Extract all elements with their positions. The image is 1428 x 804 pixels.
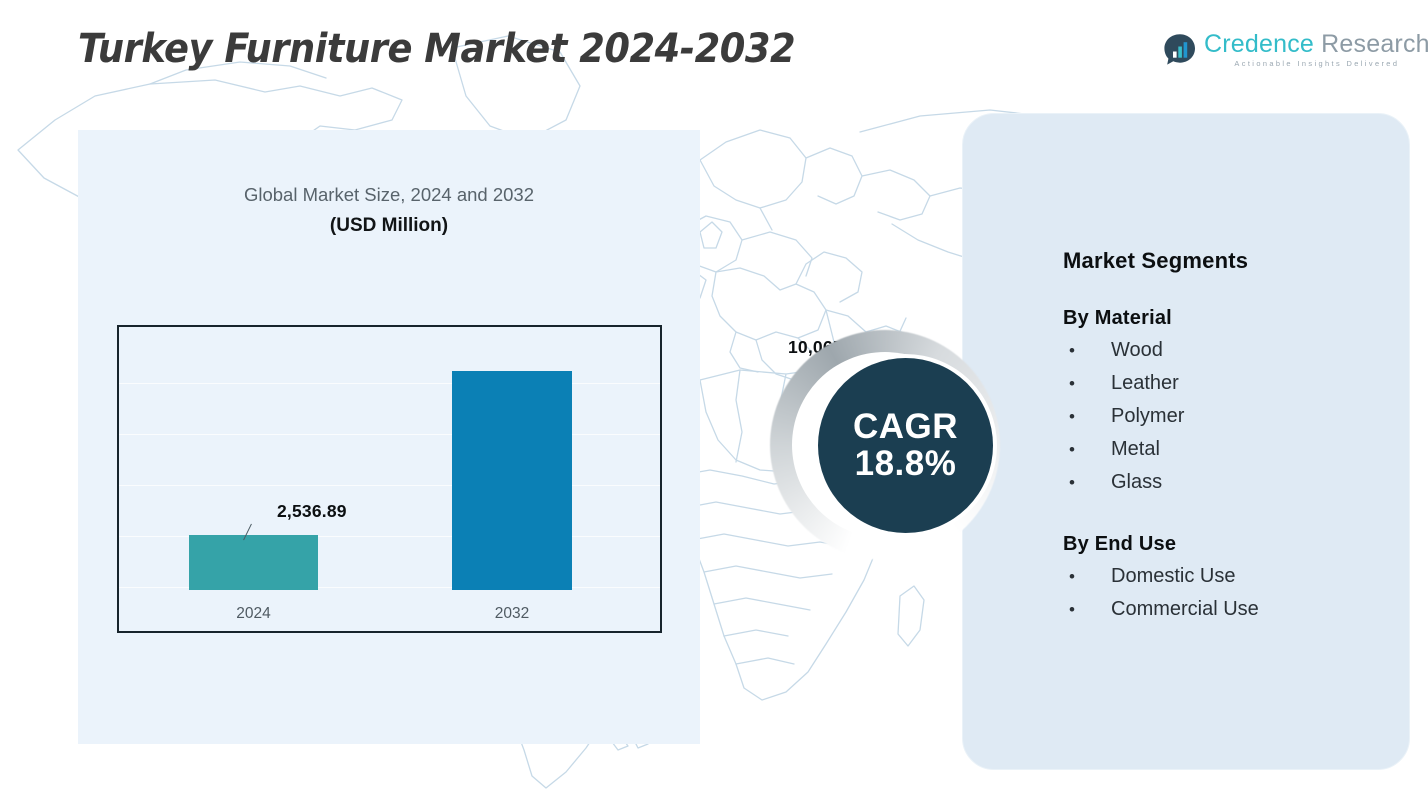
segments-heading: Market Segments [1063,248,1393,274]
list-item-label: Leather [1111,367,1393,399]
cagr-value: 18.8% [855,446,957,483]
segment-group-title: By Material [1063,307,1393,330]
gridline [119,485,660,486]
gridline [119,434,660,435]
market-segments: Market Segments By Material • Wood • Lea… [1063,248,1393,660]
bar-chart-plot: 2,536.89 10,065.45 2024 2032 [117,325,662,633]
logo-tagline: Actionable Insights Delivered [1204,60,1428,67]
x-axis-label-2024: 2024 [189,605,318,623]
list-item-label: Wood [1111,334,1393,366]
segment-group-end-use: By End Use • Domestic Use • Commercial U… [1063,533,1393,626]
bullet-icon: • [1063,335,1111,367]
list-item-label: Metal [1111,433,1393,465]
list-item: • Metal [1063,433,1393,466]
bullet-icon: • [1063,401,1111,433]
cagr-circle: CAGR 18.8% [818,358,993,533]
list-item: • Commercial Use [1063,593,1393,626]
bar-2024[interactable]: 2,536.89 [189,535,318,590]
bullet-icon: • [1063,368,1111,400]
cagr-badge: CAGR 18.8% [770,330,1015,560]
list-item-label: Domestic Use [1111,560,1393,592]
list-item: • Glass [1063,466,1393,499]
bullet-icon: • [1063,467,1111,499]
segment-group-material: By Material • Wood • Leather • Polymer •… [1063,307,1393,499]
chart-title: Global Market Size, 2024 and 2032 [78,184,700,206]
infographic-canvas: Turkey Furniture Market 2024-2032 Creden… [0,0,1428,804]
logo-word-secondary: Research [1321,30,1428,58]
cagr-label: CAGR [853,409,958,446]
segment-item-list: • Wood • Leather • Polymer • Metal • G [1063,334,1393,499]
segment-group-title: By End Use [1063,533,1393,556]
bar-2032[interactable]: 10,065.45 [452,371,572,590]
segment-item-list: • Domestic Use • Commercial Use [1063,560,1393,626]
brand-logo[interactable]: Credence Research Actionable Insights De… [1163,32,1428,67]
list-item-label: Polymer [1111,400,1393,432]
chart-subtitle: (USD Million) [78,215,700,237]
list-item: • Wood [1063,334,1393,367]
list-item-label: Commercial Use [1111,593,1393,625]
list-item-label: Glass [1111,466,1393,498]
bullet-icon: • [1063,594,1111,626]
bullet-icon: • [1063,561,1111,593]
list-item: • Polymer [1063,400,1393,433]
list-item: • Leather [1063,367,1393,400]
bar-value-label-2024: 2,536.89 [277,501,347,522]
gridline [119,383,660,384]
page-title: Turkey Furniture Market 2024-2032 [78,26,795,72]
logo-word-primary: Credence [1204,30,1314,58]
list-item: • Domestic Use [1063,560,1393,593]
bullet-icon: • [1063,434,1111,466]
bar-chart-bubble-icon [1163,33,1197,67]
x-axis-label-2032: 2032 [452,605,572,623]
